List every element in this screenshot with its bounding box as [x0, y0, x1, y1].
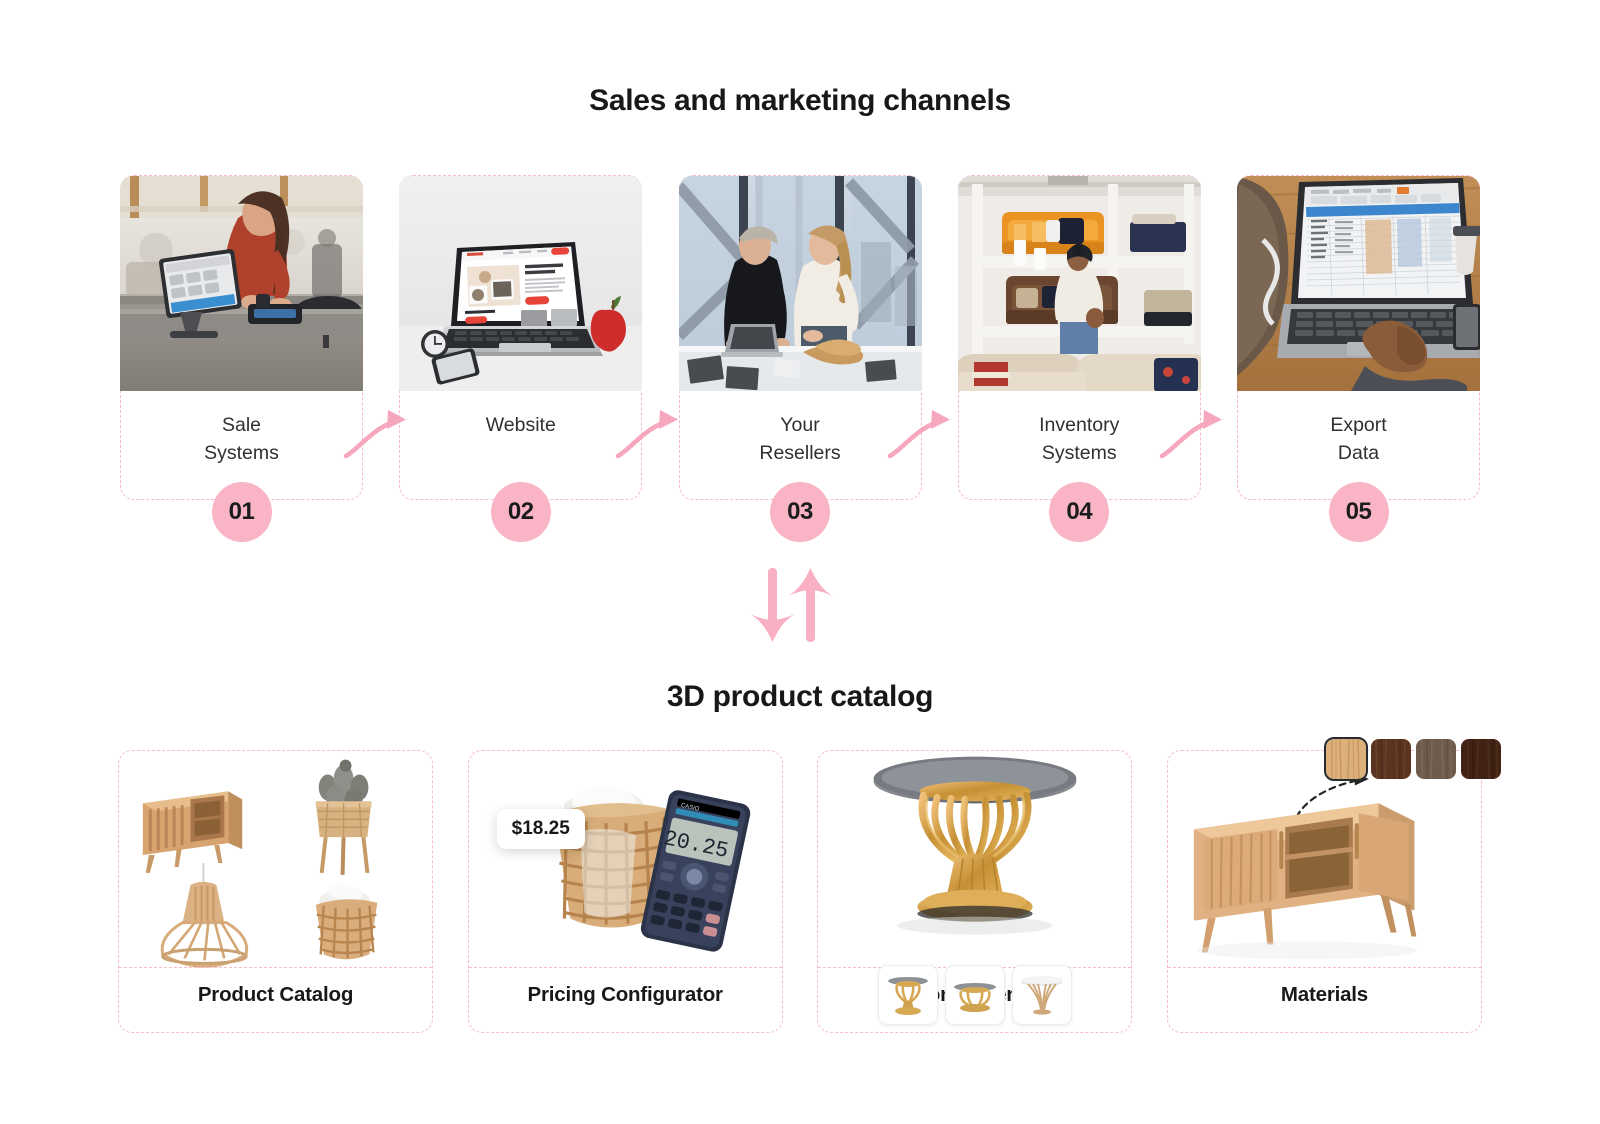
component-thumb-3[interactable] — [1012, 965, 1072, 1025]
arrow-up-icon — [788, 568, 833, 642]
step-badge-01: 01 — [212, 482, 272, 542]
flow-card-label: Inventory Systems — [1039, 411, 1119, 467]
catalog-card-product-catalog[interactable]: Product Catalog — [118, 750, 433, 1033]
price-badge: $18.25 — [497, 809, 585, 849]
flow-card-website[interactable]: Website 02 — [399, 175, 642, 500]
step-badge-03: 03 — [770, 482, 830, 542]
label-line-1: Export — [1330, 414, 1386, 436]
catalog-card-pricing-configurator[interactable]: $18.25 — [468, 750, 783, 1033]
label-line-2: Systems — [204, 442, 279, 464]
reseller-meeting-photo — [679, 176, 922, 391]
material-swatches — [1326, 739, 1501, 779]
component-thumb-1[interactable] — [878, 965, 938, 1025]
step-badge-02: 02 — [491, 482, 551, 542]
catalog-card-components[interactable]: Components — [817, 750, 1132, 1033]
flow-card-label: Export Data — [1330, 411, 1386, 467]
swatch-light-oak[interactable] — [1326, 739, 1366, 779]
card-divider — [119, 967, 432, 968]
arrow-down-icon — [750, 568, 795, 642]
furniture-showroom-photo — [958, 176, 1201, 391]
spreadsheet-laptop-photo — [1237, 176, 1480, 391]
page-title-catalog: 3D product catalog — [0, 680, 1600, 714]
sideboard-thumb — [143, 791, 242, 872]
basket-calculator-art: CASIO 20.25 — [469, 751, 782, 967]
catalog-card-label: Materials — [1168, 983, 1481, 1007]
swatch-grey-oak[interactable] — [1416, 739, 1456, 779]
step-badge-04: 04 — [1049, 482, 1109, 542]
card-divider — [1168, 967, 1481, 968]
catalog-card-label: Pricing Configurator — [469, 983, 782, 1007]
gold-table-art — [818, 751, 1131, 967]
label-line-1: Website — [486, 414, 556, 436]
laptop-website-mockup-photo — [399, 176, 642, 391]
flow-card-your-resellers[interactable]: Your Resellers 03 — [679, 175, 922, 500]
label-line-1: Your — [780, 414, 819, 436]
catalog-row: Product Catalog $18.25 — [118, 750, 1482, 1033]
card-divider — [469, 967, 782, 968]
infographic-page: Sales and marketing channels — [0, 0, 1600, 1124]
label-line-1: Inventory — [1039, 414, 1119, 436]
swatch-dark-walnut[interactable] — [1461, 739, 1501, 779]
sales-channel-row: Sale Systems 01 — [120, 175, 1480, 520]
component-variants — [878, 965, 1072, 1025]
flow-card-label: Sale Systems — [204, 411, 279, 467]
furniture-grid-art — [119, 751, 432, 967]
page-title-sales: Sales and marketing channels — [0, 84, 1600, 118]
basket-thumb — [316, 884, 378, 959]
label-line-2: Systems — [1042, 442, 1117, 464]
flow-card-export-data[interactable]: Export Data 05 — [1237, 175, 1480, 500]
cactus-planter-thumb — [316, 760, 372, 875]
bidirectional-sync-arrows — [742, 562, 842, 648]
sideboard-art — [1168, 751, 1481, 967]
catalog-card-materials[interactable]: Materials — [1167, 750, 1482, 1033]
step-badge-05: 05 — [1329, 482, 1389, 542]
pos-terminal-photo — [120, 176, 363, 391]
label-line-2: Data — [1338, 442, 1379, 464]
swatch-walnut[interactable] — [1371, 739, 1411, 779]
pendant-lamp-thumb — [162, 863, 247, 966]
label-line-2: Resellers — [759, 442, 840, 464]
flow-card-sale-systems[interactable]: Sale Systems 01 — [120, 175, 363, 500]
flow-card-inventory-systems[interactable]: Inventory Systems 04 — [958, 175, 1201, 500]
component-thumb-2[interactable] — [945, 965, 1005, 1025]
flow-card-label: Your Resellers — [759, 411, 840, 467]
flow-card-label: Website — [486, 411, 556, 439]
label-line-1: Sale — [222, 414, 261, 436]
catalog-card-label: Product Catalog — [119, 983, 432, 1007]
